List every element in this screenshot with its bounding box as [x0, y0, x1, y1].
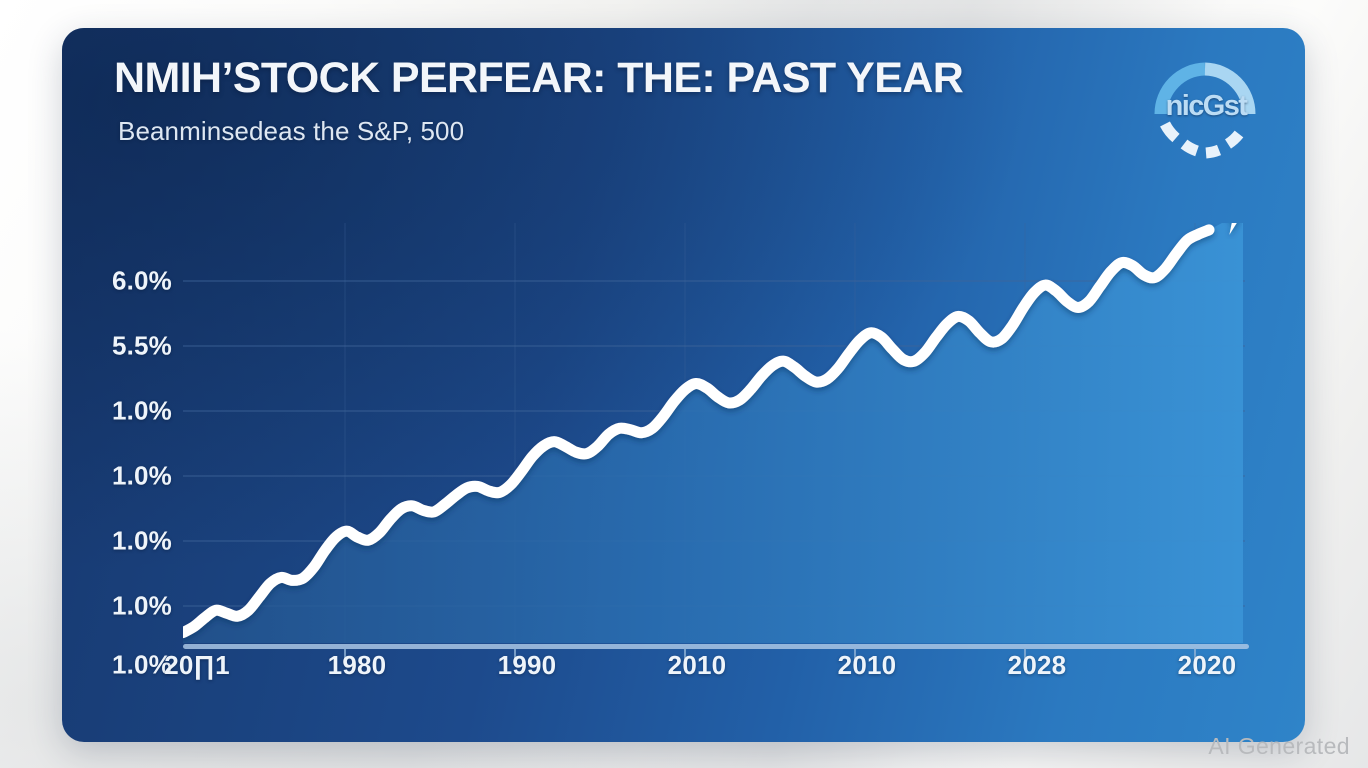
- y-axis-label: 1.0%: [72, 526, 172, 557]
- y-axis-label: 6.0%: [72, 266, 172, 297]
- y-axis: 6.0%5.5%1.0%1.0%1.0%1.0%1.0%: [62, 223, 172, 643]
- chart-subtitle: Beanminsedeas the S&P, 500: [118, 116, 1265, 147]
- y-axis-label: 1.0%: [72, 591, 172, 622]
- area-fill: [183, 223, 1243, 643]
- x-axis-label: 2020: [1178, 650, 1237, 681]
- x-axis-label: 1980: [328, 650, 387, 681]
- chart-header: NMIH’STOCK PERFEAR: THE: PAST YEAR Beanm…: [114, 56, 1265, 147]
- y-axis-label: 1.0%: [72, 461, 172, 492]
- logo-text: nicGst: [1143, 90, 1269, 123]
- ai-generated-watermark: AI Generated: [1208, 733, 1350, 760]
- x-axis: 20∏1198019902010201020282020: [183, 650, 1245, 694]
- x-axis-label: 20∏1: [164, 650, 230, 681]
- x-axis-label: 2010: [838, 650, 897, 681]
- page-title: NMIH’STOCK PERFEAR: THE: PAST YEAR: [114, 56, 1265, 102]
- y-axis-label: 1.0%: [72, 396, 172, 427]
- x-axis-label: 2028: [1008, 650, 1067, 681]
- chart-plot-area: [183, 223, 1245, 643]
- chart-card: NMIH’STOCK PERFEAR: THE: PAST YEAR Beanm…: [62, 28, 1305, 742]
- y-axis-label: 5.5%: [72, 331, 172, 362]
- arc-donut-logo-icon: nicGst: [1143, 56, 1269, 160]
- x-axis-label: 1990: [498, 650, 557, 681]
- x-axis-label: 2010: [668, 650, 727, 681]
- y-axis-label: 1.0%: [72, 650, 172, 681]
